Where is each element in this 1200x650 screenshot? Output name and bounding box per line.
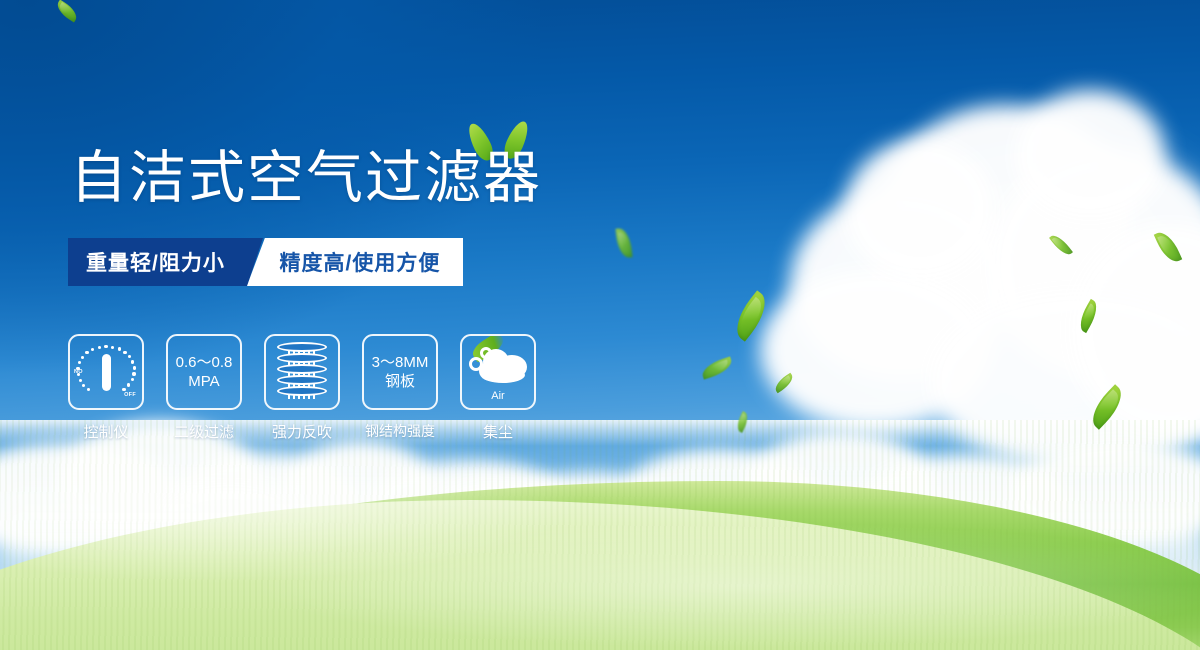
subtitle-left-segment: 重量轻/阻力小 (68, 238, 247, 286)
subtitle-right-segment: 精度高/使用方便 (247, 238, 463, 286)
feature-list: NO OFF 控制仪 0.6〜0.8 MPA 二级过滤 (68, 334, 536, 442)
feature-item-dust-collection[interactable]: Air 集尘 (460, 334, 536, 442)
air-cloud-icon: Air (467, 341, 529, 397)
feature-item-back-blow[interactable]: 强力反吹 (264, 334, 340, 442)
feature-icon-box: Air (460, 334, 536, 410)
gauge-icon: NO OFF (75, 343, 137, 401)
pressure-value-line1: 0.6〜0.8 (176, 353, 233, 372)
feature-item-two-stage-filter[interactable]: 0.6〜0.8 MPA 二级过滤 (166, 334, 242, 442)
feature-label: 钢结构强度 (365, 421, 435, 441)
page-title: 自洁式空气过滤器 (70, 146, 542, 210)
air-label: Air (467, 390, 529, 402)
feature-icon-box: NO OFF (68, 334, 144, 410)
grass-field (0, 420, 1200, 650)
feature-label: 强力反吹 (272, 421, 332, 442)
feature-item-control-gauge[interactable]: NO OFF 控制仪 (68, 334, 144, 442)
feature-label: 集尘 (483, 421, 513, 442)
gauge-label-no: NO (74, 369, 83, 375)
feature-label: 控制仪 (83, 421, 128, 442)
steel-value-line2: 钢板 (385, 372, 415, 391)
feature-icon-box: 3〜8MM 钢板 (362, 334, 438, 410)
feature-label: 二级过滤 (174, 421, 234, 442)
cumulus-cloud-right (760, 95, 1200, 465)
feature-item-steel-strength[interactable]: 3〜8MM 钢板 钢结构强度 (362, 334, 438, 442)
feature-icon-box (264, 334, 340, 410)
subtitle-bar: 重量轻/阻力小 精度高/使用方便 (68, 238, 463, 286)
coil-filter-icon (277, 342, 327, 402)
feature-icon-box: 0.6〜0.8 MPA (166, 334, 242, 410)
product-hero-banner: 自洁式空气过滤器 重量轻/阻力小 精度高/使用方便 (0, 0, 1200, 650)
gauge-label-off: OFF (124, 392, 136, 398)
steel-value-line1: 3〜8MM (372, 353, 429, 372)
pressure-value-line2: MPA (188, 372, 219, 391)
